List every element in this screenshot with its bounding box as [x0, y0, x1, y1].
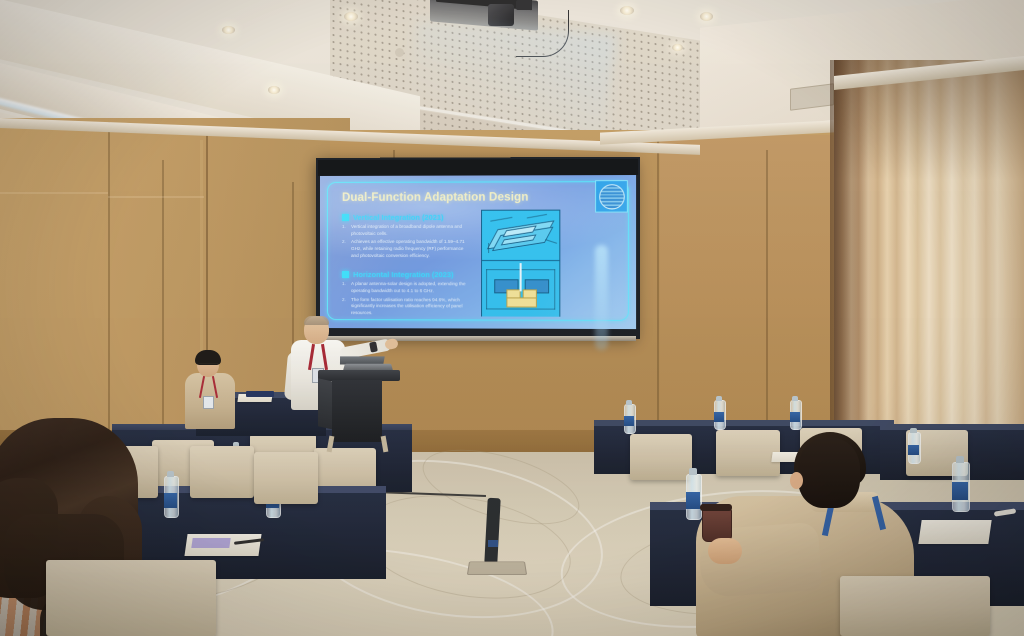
downlight-icon: [700, 12, 713, 21]
slide-section-heading-1: Vertical Integration (2021): [342, 213, 471, 222]
bottle-cap: [910, 428, 916, 433]
podium: [318, 370, 400, 448]
section-1-label: Vertical Integration (2021): [353, 213, 444, 222]
presentation-slide: Dual-Function Adaptation Design Vertical…: [320, 175, 636, 329]
bottle-cap: [716, 396, 722, 400]
bullet-square-icon: [342, 214, 349, 221]
downlight-icon: [344, 12, 358, 21]
slide-bullet: 2. The form factor utilisation ratio rea…: [342, 297, 471, 317]
wall-panel-seam: [657, 140, 659, 456]
downlight-icon: [222, 26, 235, 34]
downlight-icon: [672, 44, 683, 51]
bottle-cap: [956, 456, 965, 464]
bottle-label: [714, 412, 724, 422]
notebook: [246, 391, 274, 397]
slide-title: Dual-Function Adaptation Design: [342, 191, 585, 204]
printed-chart: [191, 538, 230, 548]
water-bottle: [624, 404, 634, 432]
projector-lens: [488, 4, 514, 26]
university-seal-logo: [595, 180, 628, 212]
bottle-label: [790, 412, 800, 422]
wall-light-reflection: [595, 245, 608, 350]
figure-3d-antenna-view: [482, 211, 559, 259]
cable-tape: [488, 540, 498, 547]
water-bottle: [714, 400, 724, 428]
smoke-detector-icon: [395, 48, 404, 57]
conference-room-photo: Dual-Function Adaptation Design Vertical…: [0, 0, 1024, 636]
wall-panel-seam: [766, 150, 768, 450]
chair: [630, 434, 692, 480]
bottle-cap: [626, 400, 632, 404]
slide-body-text: Vertical Integration (2021) 1. Vertical …: [342, 213, 471, 317]
projector-mount: [516, 0, 532, 10]
attendee-back-left: [183, 352, 243, 430]
water-bottle: [952, 462, 968, 510]
coffee-cup: [702, 508, 732, 542]
section-2-label: Horizontal Integration (2023): [353, 270, 453, 279]
chair-front-right: [840, 576, 990, 636]
podium-body: [332, 380, 382, 442]
bottle-label: [624, 416, 634, 426]
slide-section-heading-2: Horizontal Integration (2023): [342, 270, 471, 279]
slide-bullet: 1. A planar antenna-solar design is adop…: [342, 281, 471, 295]
wall-panel-seam: [162, 160, 164, 456]
coffee-cup-lid: [700, 504, 732, 511]
chair: [190, 446, 254, 498]
slide-figure-diagram: [481, 210, 560, 317]
eyeglasses: [199, 363, 218, 368]
attendee-hand: [708, 538, 742, 564]
bottle-label: [952, 482, 968, 500]
bullet-square-icon: [342, 271, 349, 278]
bottle-cap: [792, 396, 798, 400]
floor-cable-box: [467, 562, 527, 575]
seal-inner: [599, 184, 625, 209]
wall-panel-seam: [108, 122, 110, 452]
handout-paper: [918, 520, 991, 544]
downlight-icon: [620, 6, 634, 15]
wall-panel-seam-h: [0, 192, 108, 194]
presenter-hair: [304, 316, 329, 325]
screen-top-bar: [318, 159, 638, 176]
wall-panel-seam-h: [108, 196, 204, 198]
screen-frame: Dual-Function Adaptation Design Vertical…: [316, 157, 640, 339]
chair: [254, 452, 318, 504]
downlight-icon: [268, 86, 280, 94]
projection-screen: Dual-Function Adaptation Design Vertical…: [316, 158, 636, 338]
attendee-head: [798, 438, 860, 508]
chair-front-left: [46, 560, 216, 636]
attendee-badge: [203, 396, 214, 409]
water-bottle: [790, 400, 800, 428]
figure-cross-section-view: [482, 260, 559, 317]
slide-bullet: 2. Achieves an effective operating bandw…: [342, 239, 471, 259]
slide-bullet: 1. Vertical integration of a broadband d…: [342, 224, 471, 237]
attendee-ear: [790, 472, 803, 489]
